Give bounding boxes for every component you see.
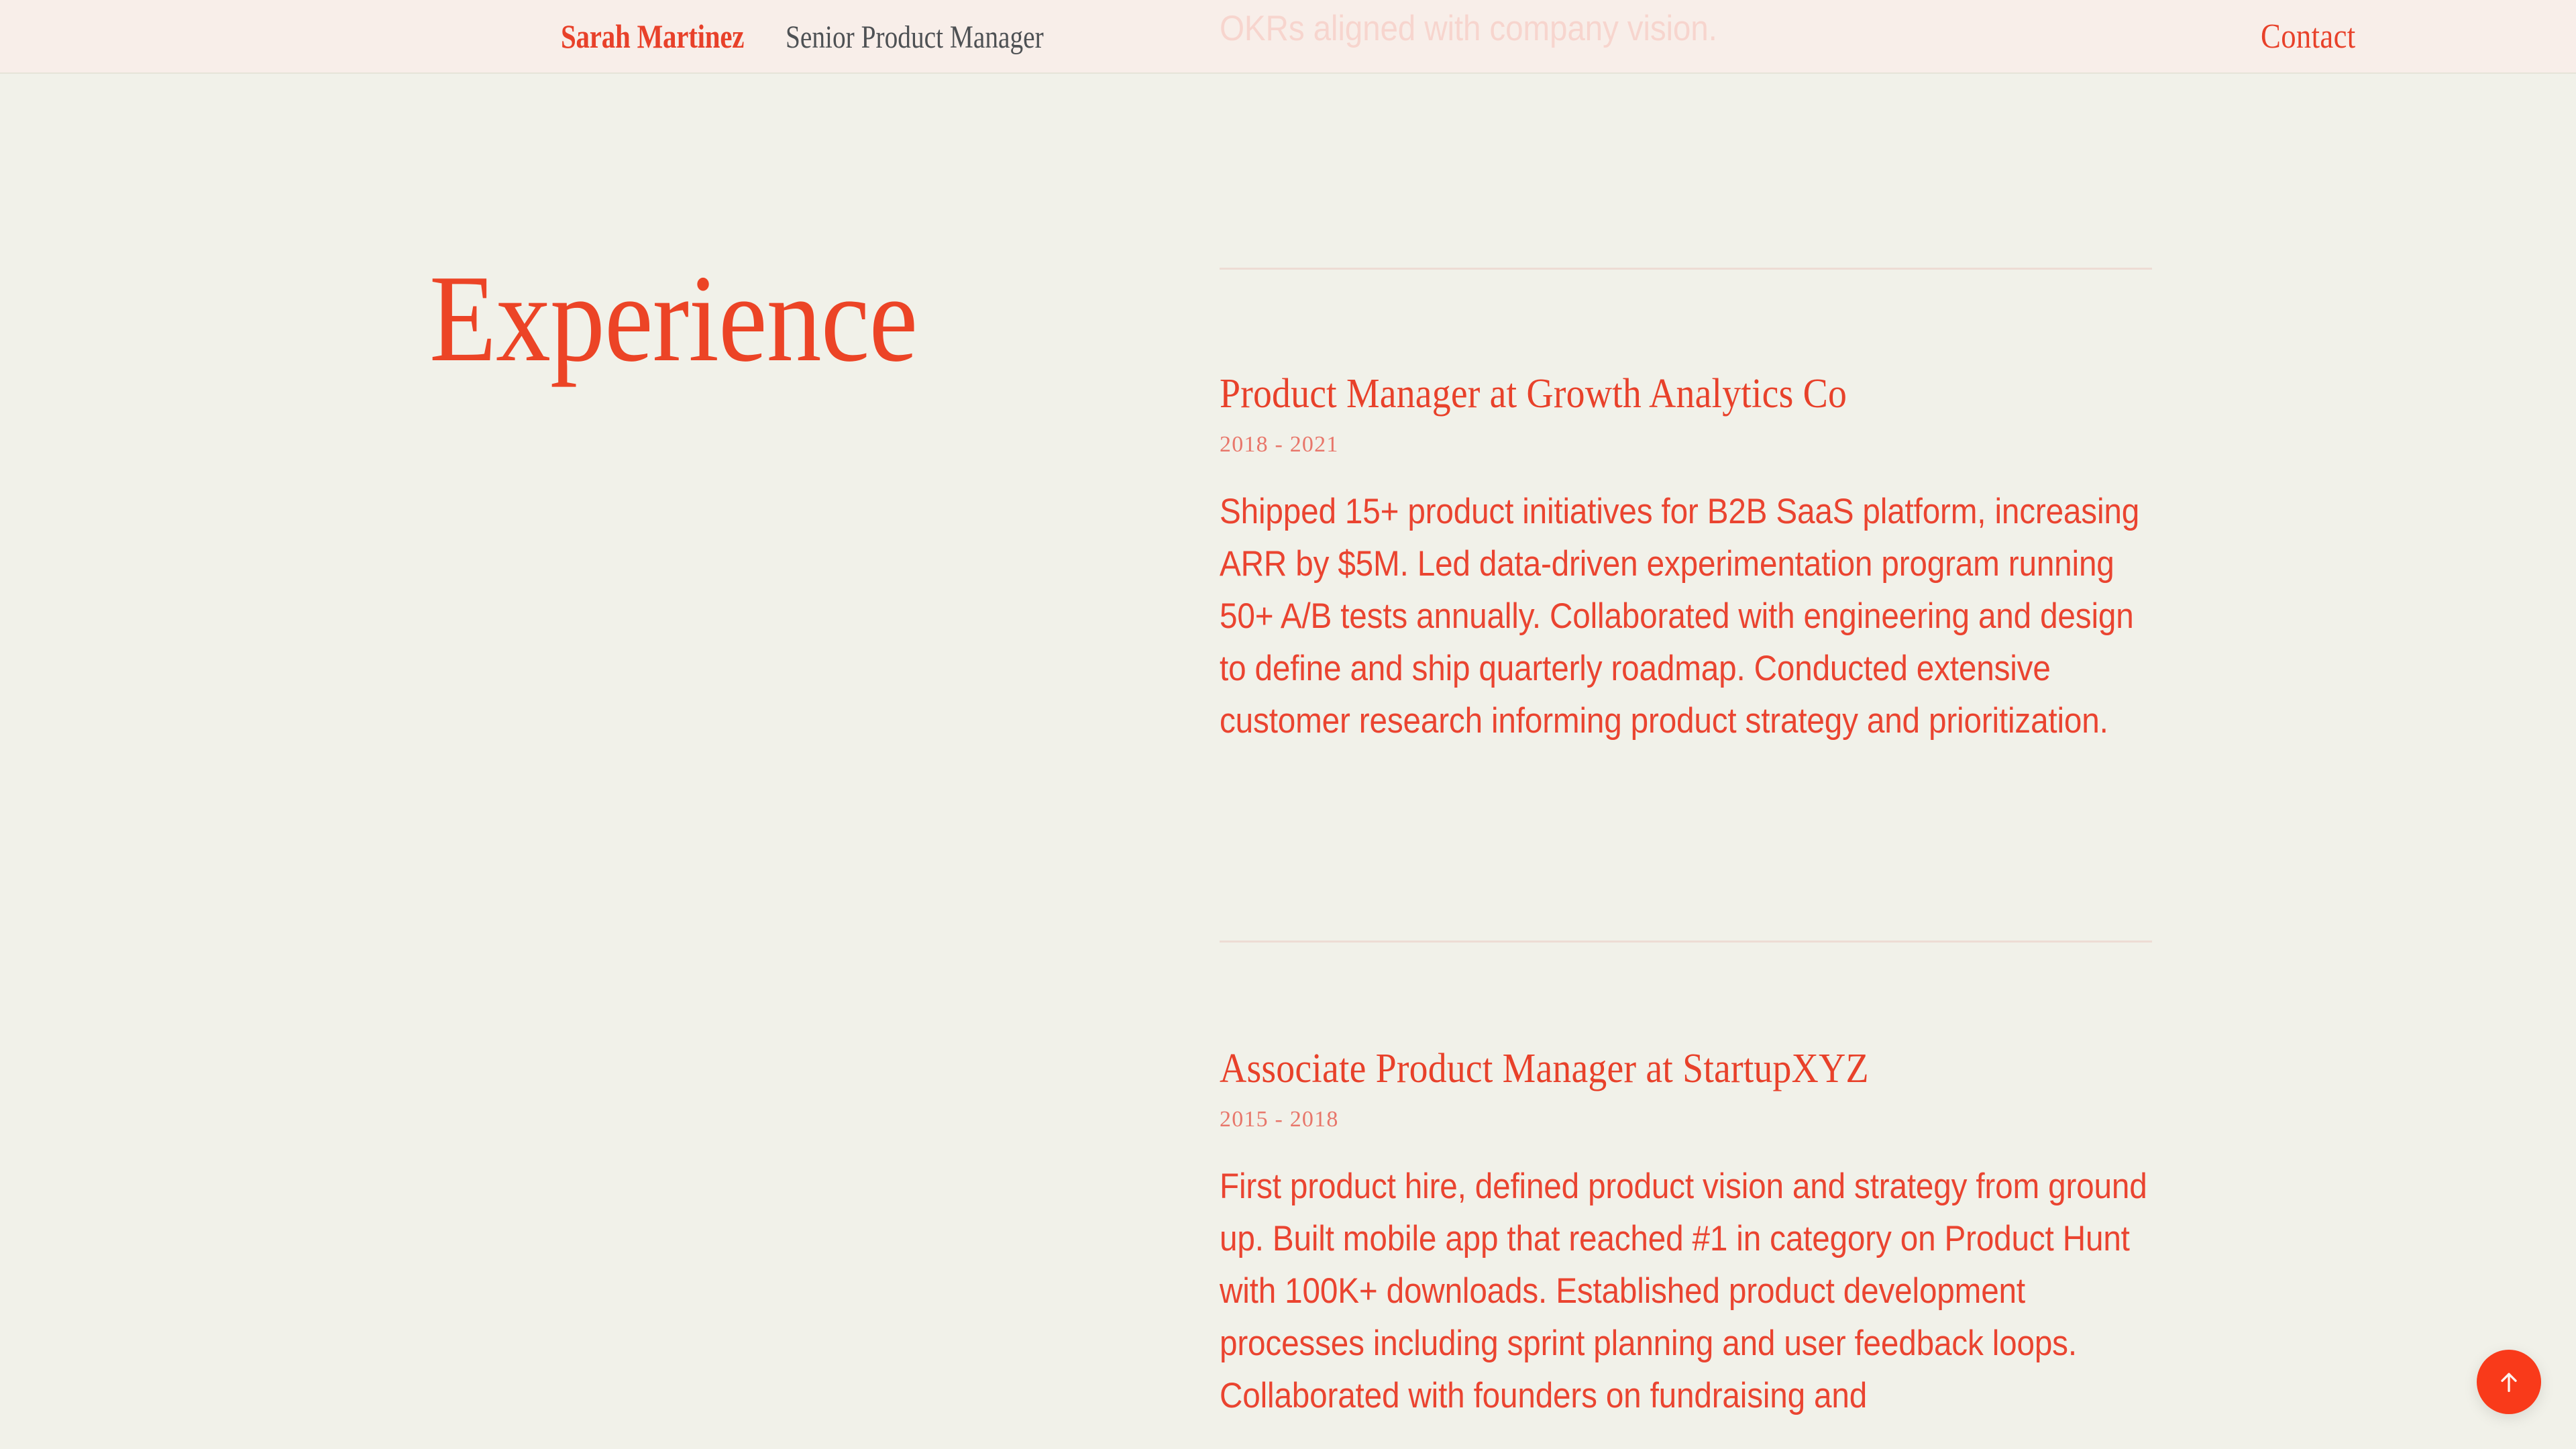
experience-entry-growth-analytics: Product Manager at Growth Analytics Co 2… (1220, 370, 2152, 747)
page-root: Experience engineers, designers, and ana… (0, 0, 2576, 1449)
job-description: First product hire, defined product visi… (1220, 1161, 2153, 1422)
site-header: Sarah Martinez Senior Product Manager Co… (0, 0, 2576, 74)
header-inner: Sarah Martinez Senior Product Manager Co… (0, 0, 2576, 72)
job-dates: 2018 - 2021 (1220, 433, 2152, 456)
job-title: Associate Product Manager at StartupXYZ (1220, 1045, 2059, 1093)
nav-link-contact[interactable]: Contact (2261, 17, 2356, 56)
experience-entry-startupxyz: Associate Product Manager at StartupXYZ … (1220, 1045, 2152, 1422)
entry-divider (1220, 941, 2152, 943)
job-title: Product Manager at Growth Analytics Co (1220, 370, 2059, 419)
arrow-up-icon (2495, 1368, 2522, 1395)
left-column: Experience (0, 0, 1201, 1449)
job-description: Shipped 15+ product initiatives for B2B … (1220, 486, 2153, 747)
brand-role: Senior Product Manager (786, 19, 1044, 56)
brand-name[interactable]: Sarah Martinez (561, 17, 744, 56)
brand[interactable]: Sarah Martinez Senior Product Manager (561, 17, 1100, 56)
entry-divider (1220, 268, 2152, 270)
scroll-to-top-button[interactable] (2477, 1350, 2541, 1414)
page-title: Experience (429, 256, 917, 381)
job-dates: 2015 - 2018 (1220, 1108, 2152, 1131)
